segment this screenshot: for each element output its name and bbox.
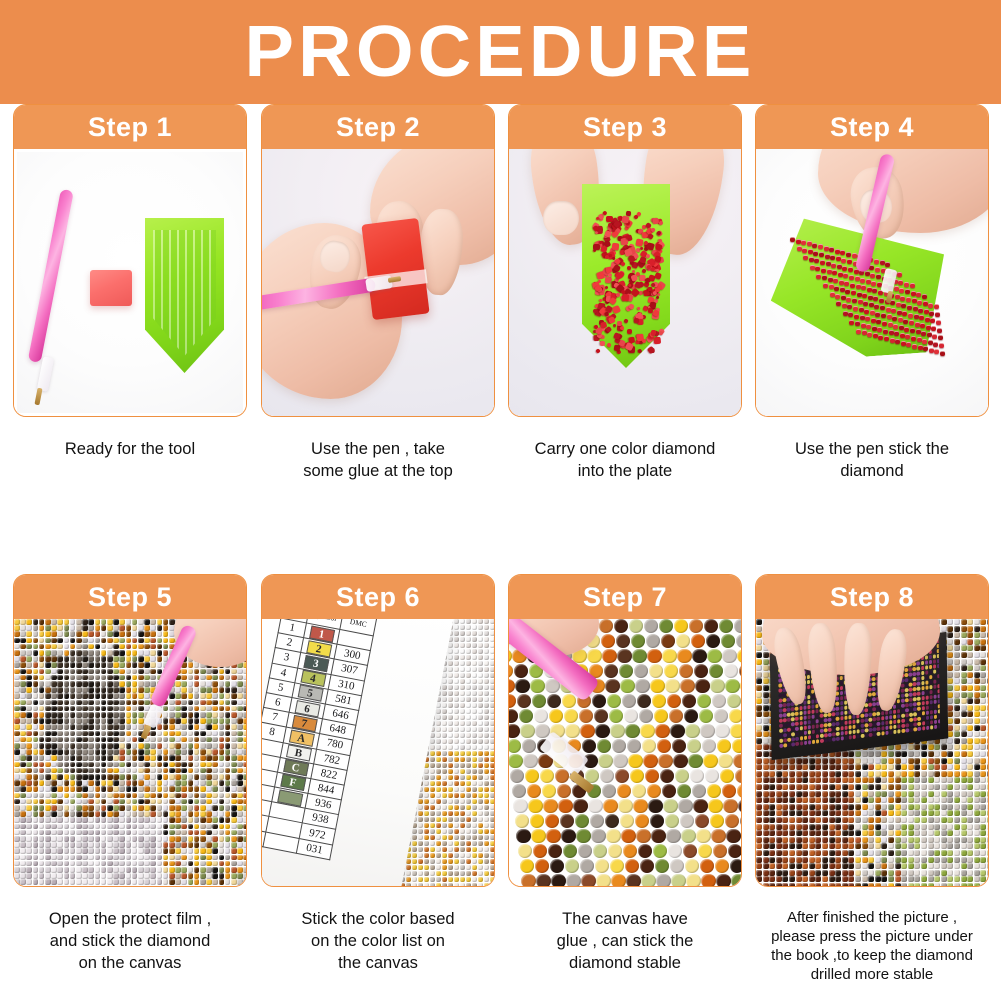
diamond-drill: [430, 805, 435, 810]
red-drill: [612, 304, 621, 313]
diamond-drill: [57, 855, 63, 861]
diamond-drill: [756, 619, 762, 625]
diamond-drill: [734, 619, 741, 633]
diamond-drill: [484, 709, 489, 714]
diamond-drill: [662, 649, 676, 663]
diamond-drill: [33, 805, 39, 811]
scene-pen-picks-drill: [756, 149, 988, 416]
diamond-drill: [686, 874, 700, 886]
diamond-drill: [163, 811, 169, 817]
diamond-drill: [484, 853, 489, 858]
diamond-drill: [243, 842, 246, 848]
diamond-drill: [101, 656, 107, 662]
diamond-drill: [64, 662, 70, 668]
step-card-6[interactable]: Step 6 Serial: [261, 574, 495, 974]
diamond-drill: [651, 829, 665, 843]
diamond-drill: [101, 619, 107, 625]
diamond-drill: [454, 757, 459, 762]
diamond-drill: [82, 737, 88, 743]
diamond-drill: [57, 811, 63, 817]
diamond-drill: [101, 786, 107, 792]
diamond-drill: [680, 814, 694, 828]
step-4-card-frame: Step 4: [755, 104, 989, 417]
diamond-drill: [436, 859, 441, 864]
diamond-drill: [448, 799, 453, 804]
diamond-drill: [82, 656, 88, 662]
diamond-drill: [14, 793, 20, 799]
red-drill: [930, 318, 935, 323]
diamond-drill: [454, 631, 459, 636]
diamond-drill: [126, 867, 132, 873]
diamond-drill: [412, 841, 417, 846]
diamond-drill: [82, 669, 88, 675]
step-card-4[interactable]: Step 4: [755, 104, 989, 483]
red-drill: [880, 305, 885, 310]
diamond-drill: [665, 679, 679, 693]
diamond-drill: [478, 727, 483, 732]
diamond-drill: [212, 731, 218, 737]
diamond-drill: [448, 805, 453, 810]
diamond-drill: [219, 861, 225, 867]
diamond-drill: [150, 774, 156, 780]
diamond-drill: [64, 700, 70, 706]
diamond-drill: [157, 836, 163, 842]
diamond-drill: [460, 709, 465, 714]
diamond-drill: [460, 625, 465, 630]
diamond-drill: [436, 769, 441, 774]
diamond-drill: [20, 712, 26, 718]
diamond-drill: [194, 824, 200, 830]
diamond-drill: [64, 644, 70, 650]
diamond-drill: [181, 811, 187, 817]
diamond-drill: [144, 848, 150, 854]
diamond-drill: [57, 644, 63, 650]
diamond-drill: [967, 626, 973, 632]
diamond-drill: [206, 768, 212, 774]
step-card-5[interactable]: Step 5 Open the protect film , and stick…: [13, 574, 247, 974]
red-drill: [919, 315, 924, 320]
red-drill: [838, 272, 843, 277]
diamond-drill: [144, 824, 150, 830]
diamond-drill: [219, 755, 225, 761]
diamond-drill: [26, 855, 32, 861]
diamond-drill: [138, 873, 144, 879]
diamond-drill: [39, 737, 45, 743]
diamond-drill: [243, 718, 246, 724]
diamond-drill: [466, 781, 471, 786]
diamond-drill: [132, 774, 138, 780]
diamond-drill: [95, 793, 101, 799]
diamond-drill: [57, 706, 63, 712]
diamond-drill: [243, 687, 246, 693]
diamond-drill: [126, 625, 132, 631]
diamond-drill: [144, 786, 150, 792]
diamond-drill: [181, 669, 187, 675]
diamond-drill: [715, 859, 729, 873]
diamond-drill: [436, 835, 441, 840]
diamond-drill: [490, 847, 494, 852]
diamond-drill: [39, 755, 45, 761]
diamond-drill: [454, 739, 459, 744]
diamond-drill: [150, 755, 156, 761]
diamond-drill: [144, 669, 150, 675]
diamond-drill: [460, 835, 465, 840]
diamond-drill: [57, 861, 63, 867]
diamond-drill: [659, 619, 673, 633]
diamond-drill: [442, 853, 447, 858]
diamond-drill: [181, 774, 187, 780]
red-drill: [935, 312, 940, 317]
diamond-drill: [107, 681, 113, 687]
diamond-drill: [26, 799, 32, 805]
diamond-drill: [512, 784, 526, 798]
diamond-drill: [33, 700, 39, 706]
diamond-drill: [418, 799, 423, 804]
diamond-drill: [237, 873, 243, 879]
red-drill: [910, 283, 915, 288]
diamond-drill: [76, 681, 82, 687]
diamond-drill: [70, 848, 76, 854]
diamond-drill: [126, 656, 132, 662]
diamond-drill: [623, 844, 637, 858]
diamond-drill: [126, 693, 132, 699]
diamond-drill: [490, 745, 494, 750]
diamond-drill: [33, 867, 39, 873]
diamond-drill: [212, 861, 218, 867]
diamond-drill: [45, 681, 51, 687]
diamond-drill: [20, 836, 26, 842]
diamond-drill: [509, 664, 513, 678]
diamond-drill: [101, 737, 107, 743]
diamond-drill: [472, 691, 477, 696]
diamond-drill: [76, 737, 82, 743]
diamond-drill: [442, 805, 447, 810]
diamond-drill: [212, 700, 218, 706]
diamond-drill: [200, 718, 206, 724]
diamond-drill: [163, 718, 169, 724]
diamond-drill: [442, 673, 447, 678]
diamond-drill: [430, 841, 435, 846]
red-drill: [929, 348, 934, 353]
diamond-drill: [237, 731, 243, 737]
diamond-drill: [132, 855, 138, 861]
diamond-drill: [20, 662, 26, 668]
diamond-drill: [113, 656, 119, 662]
diamond-drill: [206, 693, 212, 699]
diamond-drill: [119, 743, 125, 749]
diamond-drill: [974, 626, 980, 632]
diamond-drill: [119, 724, 125, 730]
diamond-drill: [57, 793, 63, 799]
diamond-drill: [163, 638, 169, 644]
diamond-drill: [478, 733, 483, 738]
diamond-drill: [442, 835, 447, 840]
diamond-drill: [70, 793, 76, 799]
diamond-drill: [132, 656, 138, 662]
diamond-drill: [70, 768, 76, 774]
diamond-drill: [225, 712, 231, 718]
diamond-drill: [169, 805, 175, 811]
diamond-drill: [578, 844, 592, 858]
diamond-drill: [181, 873, 187, 879]
diamond-drill: [39, 731, 45, 737]
diamond-drill: [175, 867, 181, 873]
diamond-drill: [472, 703, 477, 708]
diamond-drill: [64, 638, 70, 644]
diamond-drill: [200, 848, 206, 854]
diamond-drill: [430, 871, 435, 876]
diamond-drill: [138, 786, 144, 792]
diamond-drill: [520, 859, 534, 873]
diamond-drill: [175, 780, 181, 786]
diamond-drill: [76, 768, 82, 774]
diamond-drill: [113, 693, 119, 699]
red-drill: [918, 308, 923, 313]
diamond-drill: [448, 793, 453, 798]
diamond-drill: [119, 774, 125, 780]
diamond-drill: [412, 871, 417, 876]
red-drill: [939, 343, 944, 348]
step-2-photo: [262, 149, 494, 416]
diamond-drill: [466, 685, 471, 690]
diamond-drill: [126, 805, 132, 811]
diamond-drill: [200, 675, 206, 681]
diamond-drill: [95, 861, 101, 867]
diamond-drill: [39, 879, 45, 885]
diamond-drill: [430, 811, 435, 816]
diamond-drill: [88, 700, 94, 706]
red-drill: [884, 336, 889, 341]
diamond-drill: [39, 861, 45, 867]
diamond-drill: [126, 793, 132, 799]
step-card-1[interactable]: Step 1 R: [13, 104, 247, 461]
diamond-drill: [113, 842, 119, 848]
diamond-drill: [602, 784, 616, 798]
diamond-drill: [45, 799, 51, 805]
diamond-drill: [175, 879, 181, 885]
diamond-drill: [175, 786, 181, 792]
diamond-drill: [237, 867, 243, 873]
diamond-drill: [231, 873, 237, 879]
diamond-drill: [157, 724, 163, 730]
diamond-drill: [82, 724, 88, 730]
diamond-drill: [132, 743, 138, 749]
diamond-drill: [113, 768, 119, 774]
diamond-drill: [181, 861, 187, 867]
diamond-drill: [679, 664, 693, 678]
diamond-drill: [150, 638, 156, 644]
diamond-drill: [138, 631, 144, 637]
red-drill: [920, 323, 925, 328]
diamond-drill: [45, 693, 51, 699]
diamond-drill: [454, 691, 459, 696]
diamond-drill: [418, 835, 423, 840]
diamond-drill: [76, 774, 82, 780]
diamond-drill: [150, 811, 156, 817]
diamond-drill: [20, 700, 26, 706]
red-drill: [825, 254, 830, 259]
diamond-drill: [26, 687, 32, 693]
diamond-drill: [88, 631, 94, 637]
red-drill: [880, 260, 885, 265]
diamond-drill: [175, 799, 181, 805]
scene-press-with-book: [756, 619, 988, 886]
diamond-drill: [454, 793, 459, 798]
diamond-drill: [20, 768, 26, 774]
diamond-drill: [448, 787, 453, 792]
diamond-drill: [200, 693, 206, 699]
diamond-drill: [76, 693, 82, 699]
diamond-drill: [132, 644, 138, 650]
diamond-drill: [14, 805, 20, 811]
diamond-drill: [478, 799, 483, 804]
red-drill: [595, 348, 601, 354]
red-drill: [895, 339, 900, 344]
red-drill: [898, 280, 903, 285]
diamond-drill: [430, 781, 435, 786]
diamond-drill: [113, 712, 119, 718]
diamond-drill: [51, 731, 57, 737]
step-card-8[interactable]: Step 8: [755, 574, 989, 985]
diamond-drill: [460, 673, 465, 678]
diamond-drill: [126, 855, 132, 861]
diamond-drill: [101, 824, 107, 830]
diamond-drill: [107, 675, 113, 681]
diamond-drill: [132, 861, 138, 867]
diamond-drill: [605, 679, 619, 693]
diamond-drill: [76, 811, 82, 817]
red-drill: [871, 318, 876, 323]
diamond-drill: [237, 743, 243, 749]
diamond-drill: [132, 650, 138, 656]
diamond-drill: [484, 655, 489, 660]
diamond-drill: [448, 661, 453, 666]
diamond-drill: [76, 631, 82, 637]
diamond-drill: [144, 681, 150, 687]
diamond-drill: [478, 637, 483, 642]
diamond-drill: [237, 768, 243, 774]
diamond-drill: [466, 769, 471, 774]
red-drill: [894, 286, 899, 291]
diamond-drill: [163, 867, 169, 873]
diamond-drill: [157, 743, 163, 749]
diamond-drill: [82, 879, 88, 885]
diamond-drill: [126, 638, 132, 644]
diamond-drill: [243, 712, 246, 718]
diamond-drill: [82, 824, 88, 830]
step-4-header: Step 4: [756, 105, 988, 149]
diamond-drill: [243, 830, 246, 836]
diamond-drill: [138, 669, 144, 675]
diamond-drill: [64, 731, 70, 737]
diamond-drill: [683, 844, 697, 858]
diamond-drill: [528, 799, 542, 813]
step-card-7[interactable]: Step 7 The canvas have glue , can stick …: [508, 574, 742, 974]
diamond-drill: [448, 769, 453, 774]
diamond-drill: [448, 757, 453, 762]
diamond-drill: [206, 793, 212, 799]
diamond-drill: [225, 669, 231, 675]
diamond-drill: [157, 873, 163, 879]
diamond-drill: [490, 775, 494, 780]
red-drill: [905, 289, 910, 294]
diamond-drill: [144, 644, 150, 650]
diamond-drill: [466, 637, 471, 642]
diamond-drill: [194, 768, 200, 774]
diamond-drill: [70, 873, 76, 879]
diamond-drill: [724, 664, 738, 678]
step-card-3[interactable]: Step 3 Carry: [508, 104, 742, 483]
diamond-drill: [530, 679, 544, 693]
diamond-drill: [163, 861, 169, 867]
diamond-drill: [169, 743, 175, 749]
diamond-drill: [237, 774, 243, 780]
diamond-drill: [88, 817, 94, 823]
diamond-drill: [132, 700, 138, 706]
diamond-drill: [436, 709, 441, 714]
diamond-drill: [194, 873, 200, 879]
diamond-drill: [231, 861, 237, 867]
diamond-drill: [708, 799, 722, 813]
diamond-drill: [95, 718, 101, 724]
diamond-drill: [126, 737, 132, 743]
diamond-drill: [705, 769, 719, 783]
diamond-drill: [101, 867, 107, 873]
diamond-drill: [460, 841, 465, 846]
diamond-drill: [212, 768, 218, 774]
diamond-drill: [119, 650, 125, 656]
diamond-drill: [119, 625, 125, 631]
diamond-drill: [107, 718, 113, 724]
diamond-drill: [200, 749, 206, 755]
diamond-drill: [243, 811, 246, 817]
diamond-drill: [57, 799, 63, 805]
diamond-drill: [454, 721, 459, 726]
diamond-drill: [175, 693, 181, 699]
diamond-drill: [132, 793, 138, 799]
red-drill: [910, 328, 915, 333]
diamond-drill: [181, 842, 187, 848]
diamond-drill: [138, 749, 144, 755]
red-drill: [894, 331, 899, 336]
diamond-drill: [82, 650, 88, 656]
diamond-drill: [509, 679, 515, 693]
diamond-drill: [138, 867, 144, 873]
diamond-drill: [51, 824, 57, 830]
diamond-drill: [39, 824, 45, 830]
diamond-drill: [51, 805, 57, 811]
diamond-drill: [517, 694, 531, 708]
diamond-drill: [652, 694, 666, 708]
red-drill: [887, 314, 892, 319]
diamond-drill: [45, 743, 51, 749]
diamond-drill: [460, 805, 465, 810]
diamond-drill: [82, 631, 88, 637]
diamond-drill: [45, 644, 51, 650]
diamond-drill: [157, 848, 163, 854]
diamond-drill: [424, 859, 429, 864]
red-drill: [899, 325, 904, 330]
diamond-drill: [113, 811, 119, 817]
red-drill: [901, 341, 906, 346]
step-card-2[interactable]: Step 2: [261, 104, 495, 483]
diamond-drill: [95, 625, 101, 631]
red-drill: [843, 311, 848, 316]
diamond-drill: [33, 724, 39, 730]
diamond-drill: [436, 775, 441, 780]
diamond-drill: [549, 709, 563, 723]
diamond-drill: [454, 817, 459, 822]
